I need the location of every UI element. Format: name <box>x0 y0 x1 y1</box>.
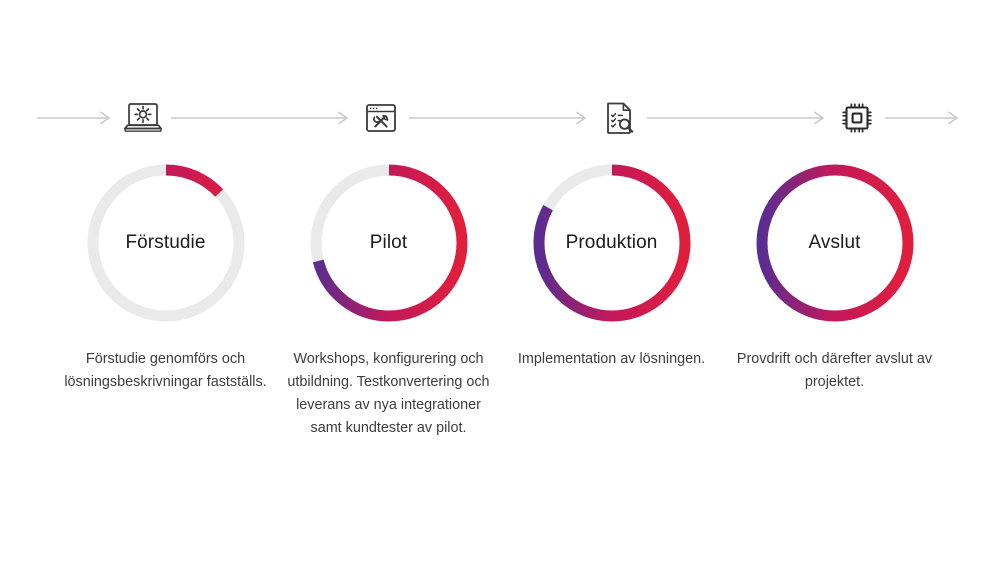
microchip-icon <box>833 96 881 140</box>
donut-label-produktion: Produktion <box>527 158 697 328</box>
document-search-icon <box>595 96 643 140</box>
donut-cell-pilot: Pilot <box>277 155 500 330</box>
donut-cell-avslut: Avslut <box>723 155 946 330</box>
donut-chart-avslut: Avslut <box>750 158 920 328</box>
laptop-gear-icon <box>119 96 167 140</box>
arrow-right-icon <box>881 110 965 126</box>
caption-avslut: Provdrift och därefter avslut av projekt… <box>723 348 946 394</box>
arrow-right-icon <box>167 110 357 126</box>
donut-label-pilot: Pilot <box>304 158 474 328</box>
phase-icon-rail <box>0 96 1000 140</box>
donut-label-avslut: Avslut <box>750 158 920 328</box>
browser-tools-icon <box>357 96 405 140</box>
donut-chart-forstudie: Förstudie <box>81 158 251 328</box>
donut-chart-produktion: Produktion <box>527 158 697 328</box>
phase-progress-donuts: Förstudie Pilot <box>0 155 1000 330</box>
caption-produktion: Implementation av lösningen. <box>500 348 723 371</box>
donut-chart-pilot: Pilot <box>304 158 474 328</box>
donut-label-forstudie: Förstudie <box>81 158 251 328</box>
arrow-right-icon <box>35 110 119 126</box>
caption-forstudie: Förstudie genomförs och lösningsbeskrivn… <box>54 348 277 394</box>
donut-cell-produktion: Produktion <box>500 155 723 330</box>
arrow-right-icon <box>405 110 595 126</box>
project-phase-infographic: Förstudie Pilot <box>0 0 1000 563</box>
arrow-right-icon <box>643 110 833 126</box>
phase-captions: Förstudie genomförs och lösningsbeskrivn… <box>0 348 1000 440</box>
donut-cell-forstudie: Förstudie <box>54 155 277 330</box>
caption-pilot: Workshops, konfigurering och utbildning.… <box>277 348 500 440</box>
